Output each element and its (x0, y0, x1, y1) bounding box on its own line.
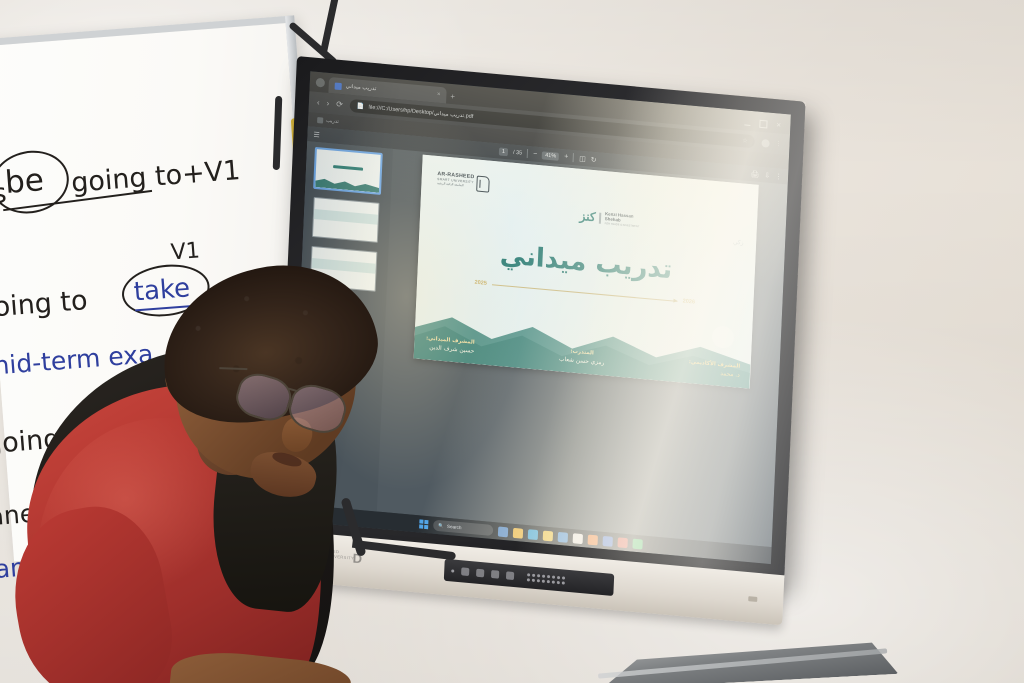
browser-toolbar-right: ⋮ (761, 139, 781, 149)
back-icon[interactable]: ‹ (317, 98, 320, 107)
thumbnail-title-bar (333, 165, 363, 171)
control-button-3[interactable] (491, 570, 499, 579)
taskbar-app-7[interactable] (588, 534, 598, 545)
sidebar-toggle-icon[interactable]: ☰ (313, 130, 320, 139)
tab-title: تدريب ميداني (346, 83, 377, 92)
more-icon[interactable]: ⋮ (775, 172, 782, 181)
bookmark-label: تدريب (326, 118, 339, 125)
window-controls: × (744, 118, 790, 130)
taskbar-app-3[interactable] (528, 529, 538, 540)
avatar[interactable] (761, 139, 769, 148)
taskbar-app-1[interactable] (498, 526, 508, 537)
zoom-in-button[interactable]: + (564, 153, 568, 160)
window-close-button[interactable]: × (776, 122, 782, 129)
bookmark-star-icon[interactable]: ☆ (742, 137, 748, 144)
thumbnail-page-1[interactable] (314, 148, 382, 194)
forward-icon[interactable]: › (326, 99, 329, 108)
thumbnail-page-2[interactable] (312, 197, 380, 243)
presentation-slide: AR-RASHEED SMART UNIVERSITY الجامعة الذك… (413, 155, 758, 389)
company-mark-ar: كنز (579, 209, 596, 224)
thumbnail-hills (315, 176, 379, 193)
whiteboard-line-4: going to+V1 (70, 155, 241, 199)
chrome-logo-icon (316, 78, 325, 88)
search-placeholder: Search (447, 524, 462, 530)
logo-divider (599, 212, 601, 223)
toolbar-divider (527, 149, 528, 158)
taskbar-app-9[interactable] (617, 537, 627, 548)
taskbar-app-8[interactable] (603, 535, 613, 546)
omnibox-actions: ☆ (742, 137, 748, 144)
student-figure (20, 268, 440, 683)
year-start: 2025 (474, 280, 486, 287)
zoom-out-button[interactable]: − (533, 151, 537, 158)
taskbar-app-5[interactable] (558, 531, 568, 542)
control-button-1[interactable] (461, 567, 469, 576)
thumbnail-band (314, 209, 378, 225)
minimize-button[interactable] (744, 120, 750, 126)
pdf-toolbar-left: ☰ (313, 130, 320, 139)
toolbar-divider-2 (573, 153, 574, 162)
zoom-level-value[interactable]: 41% (542, 151, 559, 161)
bookmark-folder-icon (317, 117, 323, 124)
whiteboard-word-be: be (4, 162, 45, 201)
classroom-scene: m ) is be going to+V1 going to take V1 m… (0, 0, 1024, 683)
ir-sensor-icon (748, 596, 757, 602)
taskbar-app-4[interactable] (543, 530, 553, 541)
page-total-label: / 35 (513, 149, 522, 156)
reload-icon[interactable]: ⟳ (336, 100, 343, 110)
maximize-button[interactable] (759, 120, 767, 129)
new-tab-button[interactable]: + (450, 92, 455, 101)
pdf-icon (335, 82, 342, 90)
speaker-grille (527, 573, 565, 584)
taskbar-search-input[interactable]: 🔍 Search (433, 520, 493, 536)
taskbar-app-10[interactable] (632, 538, 642, 549)
company-logo-text: Kenzi Hassan Shehab FOR TRADE & INVESTME… (605, 211, 640, 228)
more-menu-icon[interactable]: ⋮ (775, 140, 781, 148)
address-value: file:///C:/Users/hp/Desktop/تدريب ميداني… (368, 104, 473, 119)
print-icon[interactable]: 🖨 (750, 170, 759, 179)
rotate-icon[interactable]: ↻ (591, 155, 597, 164)
bookmark-item[interactable]: تدريب (317, 117, 339, 125)
fit-page-icon[interactable]: ◫ (579, 154, 586, 163)
power-led-icon (451, 569, 454, 572)
download-icon[interactable]: ⇩ (764, 171, 770, 180)
page-number-input[interactable]: 1 (499, 147, 508, 156)
university-logo-text: AR-RASHEED SMART UNIVERSITY الجامعة الذك… (437, 172, 475, 188)
close-icon[interactable]: × (437, 92, 441, 98)
control-button-4[interactable] (506, 571, 514, 580)
taskbar-app-6[interactable] (573, 533, 583, 544)
document-icon: 📄 (357, 103, 365, 111)
university-mark-icon (476, 175, 490, 192)
year-end: 2026 (683, 298, 695, 305)
taskbar-app-2[interactable] (513, 527, 523, 538)
display-control-panel[interactable] (444, 559, 614, 596)
whiteboard-marker-v1: V1 (170, 238, 201, 265)
slide-corner-text: زكي (733, 239, 744, 247)
pdf-toolbar-right: 🖨 ⇩ ⋮ (750, 170, 782, 181)
control-button-2[interactable] (476, 569, 484, 578)
